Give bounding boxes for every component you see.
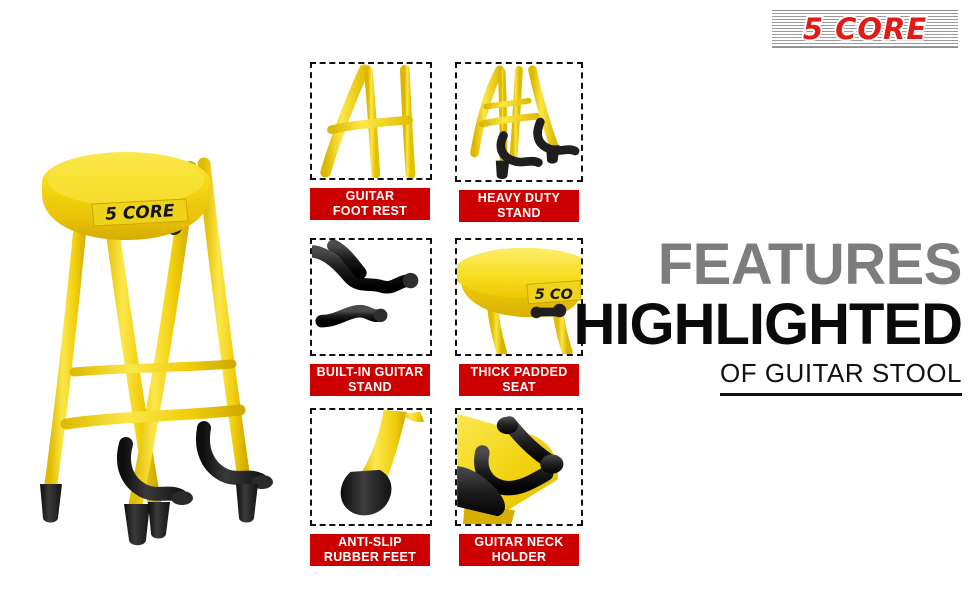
feature-photo-anti-slip-rubber-feet — [310, 408, 432, 526]
feature-label-guitar-foot-rest: GUITAR FOOT REST — [310, 188, 430, 220]
feature-photo-guitar-foot-rest — [310, 62, 432, 180]
headline-subtitle: OF GUITAR STOOL — [573, 358, 962, 388]
feature-label-built-in-guitar-stand: BUILT-IN GUITAR STAND — [310, 364, 430, 396]
svg-text:5 CORE: 5 CORE — [105, 201, 176, 225]
feature-photo-heavy-duty-stand — [455, 62, 583, 182]
feature-label-anti-slip-rubber-feet: ANTI-SLIP RUBBER FEET — [310, 534, 430, 566]
feature-cell-built-in-guitar-stand: BUILT-IN GUITAR STAND — [310, 238, 432, 396]
headline-features: FEATURES — [573, 236, 962, 294]
feature-photo-built-in-guitar-stand — [310, 238, 432, 356]
feature-cell-guitar-neck-holder: GUITAR NECK HOLDER — [455, 408, 583, 566]
seat-logo-text: 5 CO — [535, 287, 573, 303]
feature-cell-thick-padded-seat: 5 CO THICK PADDED SEAT — [455, 238, 583, 396]
feature-label-heavy-duty-stand: HEAVY DUTY STAND — [459, 190, 579, 222]
headline-underline — [720, 393, 962, 396]
feature-cell-anti-slip-rubber-feet: ANTI-SLIP RUBBER FEET — [310, 408, 432, 566]
feature-cell-heavy-duty-stand: HEAVY DUTY STAND — [455, 62, 583, 224]
headline-block: FEATURES HIGHLIGHTED OF GUITAR STOOL — [573, 236, 962, 396]
product-feature-infographic: 5 CORE — [0, 0, 970, 600]
feature-label-guitar-neck-holder: GUITAR NECK HOLDER — [459, 534, 579, 566]
brand-logo-text: 5 CORE — [772, 10, 958, 48]
feature-cell-guitar-foot-rest: GUITAR FOOT REST — [310, 62, 432, 220]
headline-highlighted: HIGHLIGHTED — [573, 296, 962, 354]
hero-seat-label: 5 CORE — [92, 199, 188, 226]
hero-product-image: 5 CORE — [8, 72, 298, 552]
feature-label-thick-padded-seat: THICK PADDED SEAT — [459, 364, 579, 396]
brand-logo: 5 CORE — [772, 10, 958, 48]
feature-photo-thick-padded-seat: 5 CO — [455, 238, 583, 356]
feature-photo-guitar-neck-holder — [455, 408, 583, 526]
